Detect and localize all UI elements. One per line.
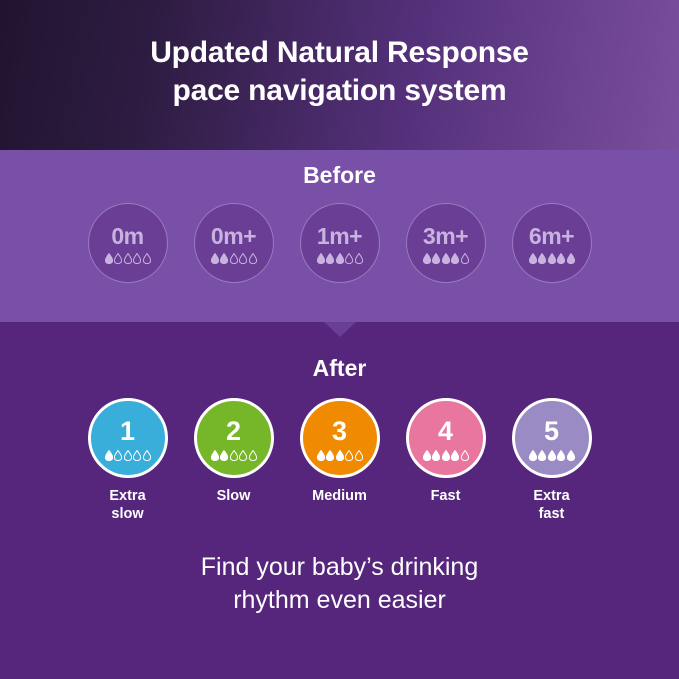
page-title: Updated Natural Response pace navigation…	[150, 34, 529, 111]
header-banner: Updated Natural Response pace navigation…	[0, 0, 679, 150]
droplet-filled-icon	[538, 253, 546, 264]
droplet-outline-icon	[133, 253, 141, 264]
droplet-filled-icon	[442, 450, 450, 461]
after-pace-label-line: slow	[109, 505, 145, 523]
droplet-filled-icon	[220, 253, 228, 264]
droplet-indicator	[317, 450, 363, 461]
triangle-down-icon	[324, 322, 356, 337]
droplet-filled-icon	[326, 450, 334, 461]
before-pace-age-label: 1m+	[317, 225, 362, 248]
droplet-outline-icon	[143, 450, 151, 461]
droplet-filled-icon	[451, 450, 459, 461]
after-pace-number: 4	[438, 418, 453, 445]
before-pace-item: 6m+	[509, 203, 595, 283]
after-pace-circle: 4	[406, 398, 486, 478]
droplet-indicator	[529, 253, 575, 264]
before-pace-age-label: 3m+	[423, 225, 468, 248]
droplet-outline-icon	[461, 450, 469, 461]
droplet-filled-icon	[529, 253, 537, 264]
droplet-filled-icon	[211, 450, 219, 461]
before-pace-item: 0m	[85, 203, 171, 283]
after-pace-label: Fast	[431, 487, 461, 505]
after-pace-label-line: Medium	[312, 487, 367, 505]
droplet-outline-icon	[239, 253, 247, 264]
after-pace-label: Slow	[217, 487, 251, 505]
after-pace-circle: 2	[194, 398, 274, 478]
droplet-outline-icon	[143, 253, 151, 264]
before-circle-row: 0m0m+1m+3m+6m+	[0, 203, 679, 283]
droplet-filled-icon	[336, 450, 344, 461]
droplet-filled-icon	[548, 253, 556, 264]
droplet-filled-icon	[557, 450, 565, 461]
droplet-filled-icon	[105, 253, 113, 264]
before-pace-age-label: 0m+	[211, 225, 256, 248]
droplet-filled-icon	[423, 253, 431, 264]
after-pace-label-line: Slow	[217, 487, 251, 505]
droplet-filled-icon	[451, 253, 459, 264]
after-pace-circle: 3	[300, 398, 380, 478]
before-pace-circle: 1m+	[300, 203, 380, 283]
droplet-filled-icon	[220, 450, 228, 461]
footer-tagline-line-1: Find your baby’s drinking	[60, 551, 619, 584]
droplet-outline-icon	[355, 450, 363, 461]
droplet-filled-icon	[432, 253, 440, 264]
droplet-indicator	[211, 253, 257, 264]
droplet-indicator	[423, 253, 469, 264]
footer-tagline-line-2: rhythm even easier	[60, 584, 619, 617]
droplet-filled-icon	[567, 450, 575, 461]
footer-tagline: Find your baby’s drinking rhythm even ea…	[0, 551, 679, 616]
page-title-line-2: pace navigation system	[150, 72, 529, 110]
droplet-indicator	[105, 450, 151, 461]
droplet-outline-icon	[461, 253, 469, 264]
before-pace-circle: 0m	[88, 203, 168, 283]
after-circle-row: 1Extraslow2Slow3Medium4Fast5Extrafast	[0, 398, 679, 523]
droplet-outline-icon	[249, 450, 257, 461]
after-pace-item: 4Fast	[403, 398, 489, 505]
droplet-filled-icon	[105, 450, 113, 461]
droplet-outline-icon	[133, 450, 141, 461]
droplet-indicator	[105, 253, 151, 264]
droplet-filled-icon	[211, 253, 219, 264]
droplet-outline-icon	[239, 450, 247, 461]
after-section: After 1Extraslow2Slow3Medium4Fast5Extraf…	[0, 322, 679, 679]
after-pace-item: 2Slow	[191, 398, 277, 505]
droplet-outline-icon	[355, 253, 363, 264]
droplet-outline-icon	[249, 253, 257, 264]
after-pace-circle: 5	[512, 398, 592, 478]
droplet-indicator	[211, 450, 257, 461]
after-pace-label: Extraslow	[109, 487, 145, 523]
droplet-filled-icon	[317, 253, 325, 264]
before-heading: Before	[0, 162, 679, 189]
droplet-filled-icon	[317, 450, 325, 461]
droplet-outline-icon	[230, 253, 238, 264]
before-pace-item: 1m+	[297, 203, 383, 283]
droplet-filled-icon	[423, 450, 431, 461]
droplet-outline-icon	[230, 450, 238, 461]
before-pace-circle: 6m+	[512, 203, 592, 283]
pace-navigation-infographic: Updated Natural Response pace navigation…	[0, 0, 679, 679]
droplet-outline-icon	[124, 450, 132, 461]
after-pace-number: 2	[226, 418, 241, 445]
droplet-filled-icon	[432, 450, 440, 461]
droplet-filled-icon	[538, 450, 546, 461]
after-pace-label-line: Fast	[431, 487, 461, 505]
before-pace-circle: 3m+	[406, 203, 486, 283]
after-pace-number: 1	[120, 418, 135, 445]
droplet-filled-icon	[326, 253, 334, 264]
before-pace-circle: 0m+	[194, 203, 274, 283]
before-section: Before 0m0m+1m+3m+6m+	[0, 150, 679, 322]
droplet-outline-icon	[345, 253, 353, 264]
after-pace-number: 3	[332, 418, 347, 445]
droplet-outline-icon	[345, 450, 353, 461]
before-pace-age-label: 0m	[111, 225, 143, 248]
after-pace-item: 1Extraslow	[85, 398, 171, 523]
after-pace-label: Medium	[312, 487, 367, 505]
droplet-outline-icon	[114, 253, 122, 264]
droplet-filled-icon	[336, 253, 344, 264]
page-title-line-1: Updated Natural Response	[150, 34, 529, 72]
droplet-indicator	[529, 450, 575, 461]
after-pace-circle: 1	[88, 398, 168, 478]
before-pace-item: 3m+	[403, 203, 489, 283]
before-pace-age-label: 6m+	[529, 225, 574, 248]
droplet-outline-icon	[124, 253, 132, 264]
droplet-indicator	[423, 450, 469, 461]
after-pace-label-line: Extra	[533, 487, 569, 505]
droplet-outline-icon	[114, 450, 122, 461]
after-pace-label-line: fast	[533, 505, 569, 523]
droplet-indicator	[317, 253, 363, 264]
droplet-filled-icon	[442, 253, 450, 264]
droplet-filled-icon	[529, 450, 537, 461]
after-pace-item: 3Medium	[297, 398, 383, 505]
after-pace-number: 5	[544, 418, 559, 445]
after-heading: After	[0, 355, 679, 382]
droplet-filled-icon	[567, 253, 575, 264]
after-pace-item: 5Extrafast	[509, 398, 595, 523]
after-pace-label-line: Extra	[109, 487, 145, 505]
before-pace-item: 0m+	[191, 203, 277, 283]
after-pace-label: Extrafast	[533, 487, 569, 523]
droplet-filled-icon	[548, 450, 556, 461]
droplet-filled-icon	[557, 253, 565, 264]
